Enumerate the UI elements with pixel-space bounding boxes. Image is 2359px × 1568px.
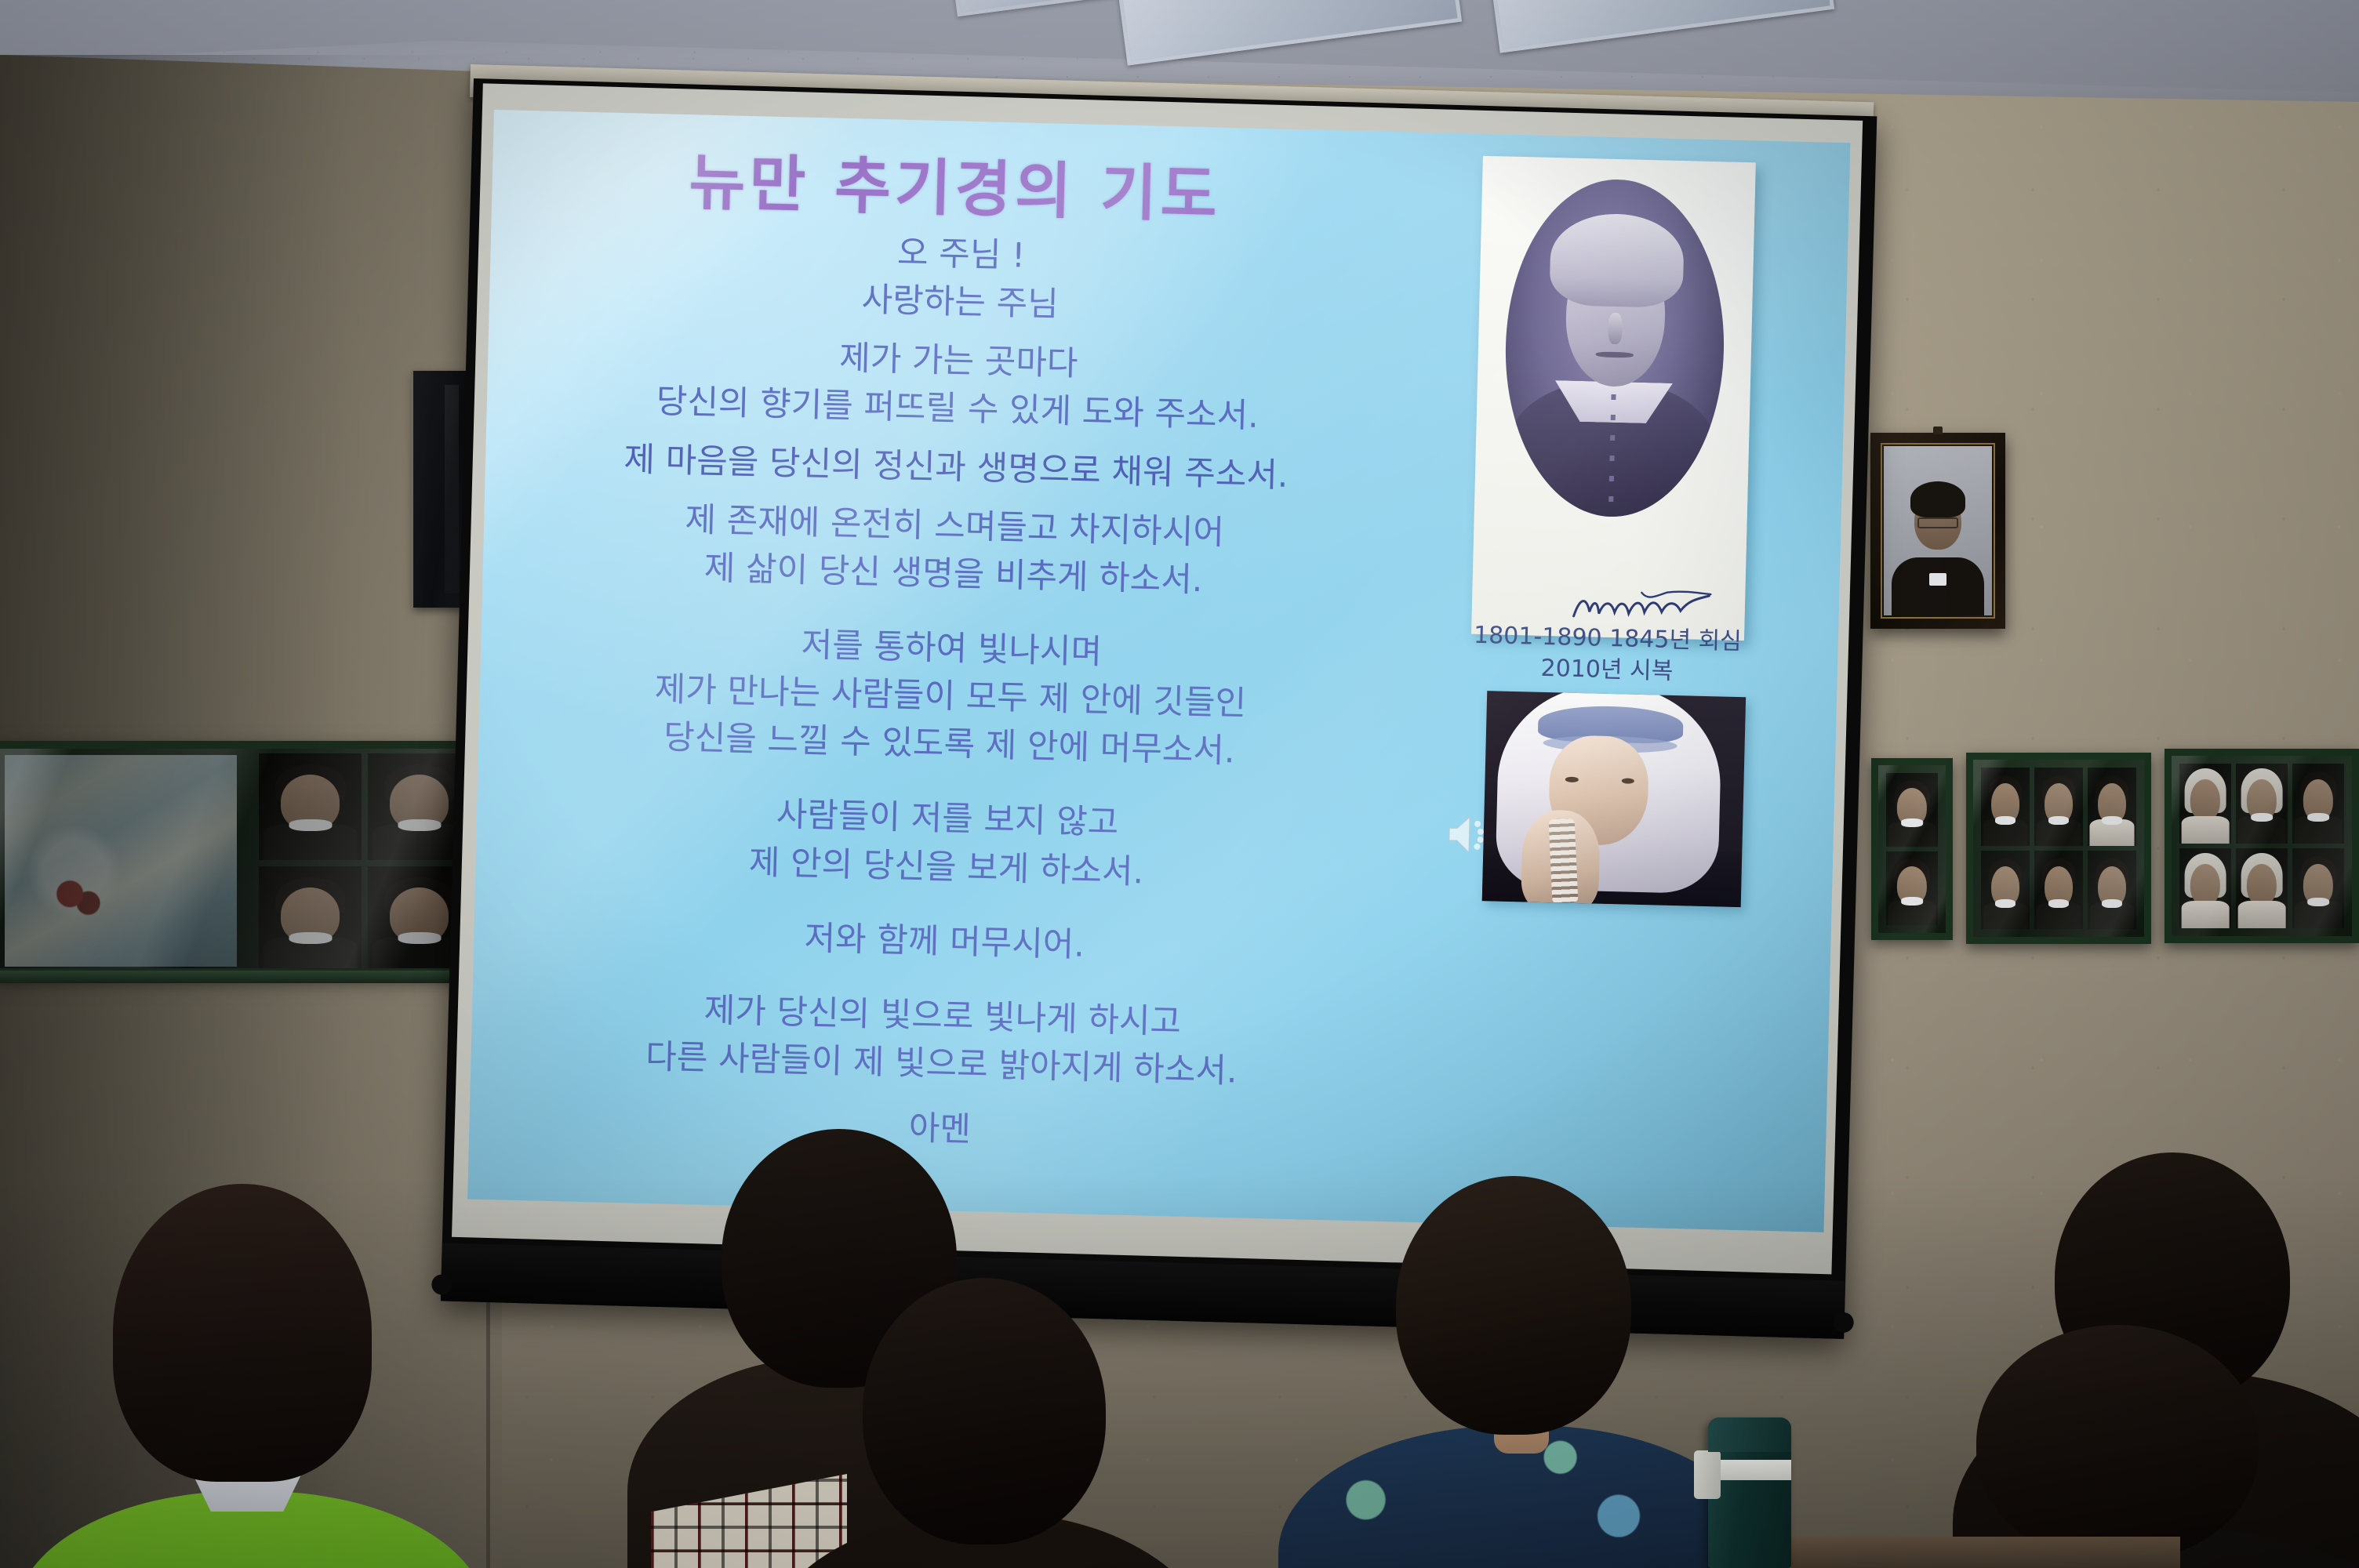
glasses-icon (1917, 517, 1958, 528)
table-edge (1772, 1537, 2180, 1568)
head (1976, 1325, 2259, 1560)
lecture-room-photo: 뉴만 추기경의 기도 오 주님 ! 사랑하는 주님 제가 가는 곳마다 당신의 … (0, 0, 2359, 1568)
id-photo (2292, 764, 2344, 844)
case-photo-grid (259, 753, 471, 973)
id-photo (2179, 848, 2231, 928)
newman-signature (1568, 586, 1726, 628)
prayer-stanza: 오 주님 ! 사랑하는 주님 (536, 220, 1386, 336)
thermos-clip (1694, 1450, 1721, 1499)
id-photo (2034, 768, 2083, 846)
id-photo (1886, 773, 1938, 847)
id-photo (259, 753, 362, 860)
prayer-stanza: 저와 함께 머무시어. (521, 908, 1369, 976)
thermos-bottle (1708, 1417, 1791, 1568)
case-rail (0, 971, 478, 983)
id-photo (1886, 851, 1938, 925)
id-photo (2088, 768, 2136, 846)
photo-board (1966, 753, 2151, 944)
speaker-sheen (445, 385, 459, 593)
prayer-stanza: 제 마음을 당신의 정신과 생명으로 채워 주소서. (532, 434, 1379, 503)
id-photo (2292, 848, 2344, 928)
projected-slide: 뉴만 추기경의 기도 오 주님 ! 사랑하는 주님 제가 가는 곳마다 당신의 … (467, 110, 1850, 1232)
head (863, 1278, 1106, 1544)
left-display-case (0, 741, 478, 976)
speaker-icon[interactable] (1445, 812, 1495, 857)
attendee-long-hair (808, 1278, 1263, 1568)
prayer-text: 오 주님 ! 사랑하는 주님 제가 가는 곳마다 당신의 향기를 퍼뜨릴 수 있… (516, 220, 1385, 1163)
attendee-front-right (1976, 1325, 2359, 1568)
id-photo (2034, 851, 2083, 929)
portrait-photo (1884, 446, 1992, 615)
clerical-collar (1929, 573, 1946, 586)
id-photo (2179, 764, 2231, 844)
id-photo (2236, 848, 2288, 928)
id-photo (259, 866, 362, 973)
attendee-green-top (47, 1184, 486, 1568)
id-photo (1981, 851, 2030, 929)
prayer-stanza: 제 존재에 온전히 스며들고 차지하시어 제 삶이 당신 생명을 비추게 하소서… (529, 493, 1379, 609)
bouquet-detail (45, 876, 107, 921)
cardinal-newman-portrait (1471, 156, 1756, 641)
head (113, 1184, 372, 1482)
prayer-line: 저와 함께 머무시어. (521, 908, 1369, 976)
prayer-stanza: 저를 통하여 빛나시며 제가 만나는 사람들이 모두 제 안에 깃들인 당신을 … (525, 615, 1376, 779)
prayer-line: 제 마음을 당신의 정신과 생명으로 채워 주소서. (532, 434, 1379, 503)
id-photo (2236, 764, 2288, 844)
prayer-stanza: 제가 가는 곳마다 당신의 향기를 퍼뜨릴 수 있게 도와 주소서. (533, 327, 1383, 443)
prayer-stanza: 제가 당신의 빛으로 빛나게 하시고 다른 사람들이 제 빛으로 밝아지게 하소… (518, 982, 1367, 1098)
mother-teresa-photo (1482, 691, 1746, 907)
id-photo (1981, 768, 2030, 846)
prayer-stanza: 사람들이 저를 보지 않고 제 안의 당신을 보게 하소서. (522, 786, 1372, 902)
newman-caption: 1801-1890 1845년 회심 2010년 시복 (1450, 619, 1765, 690)
frame-hook (1933, 426, 1943, 434)
head (1396, 1176, 1631, 1435)
id-photo (2088, 851, 2136, 929)
rosary-beads (1548, 818, 1578, 904)
photo-board (1871, 758, 1953, 940)
thermos-lid (1708, 1417, 1791, 1452)
case-poster (5, 755, 237, 967)
photo-board (2165, 749, 2359, 943)
portrait-oval-vignette (1502, 177, 1728, 520)
framed-priest-portrait (1870, 433, 2005, 629)
